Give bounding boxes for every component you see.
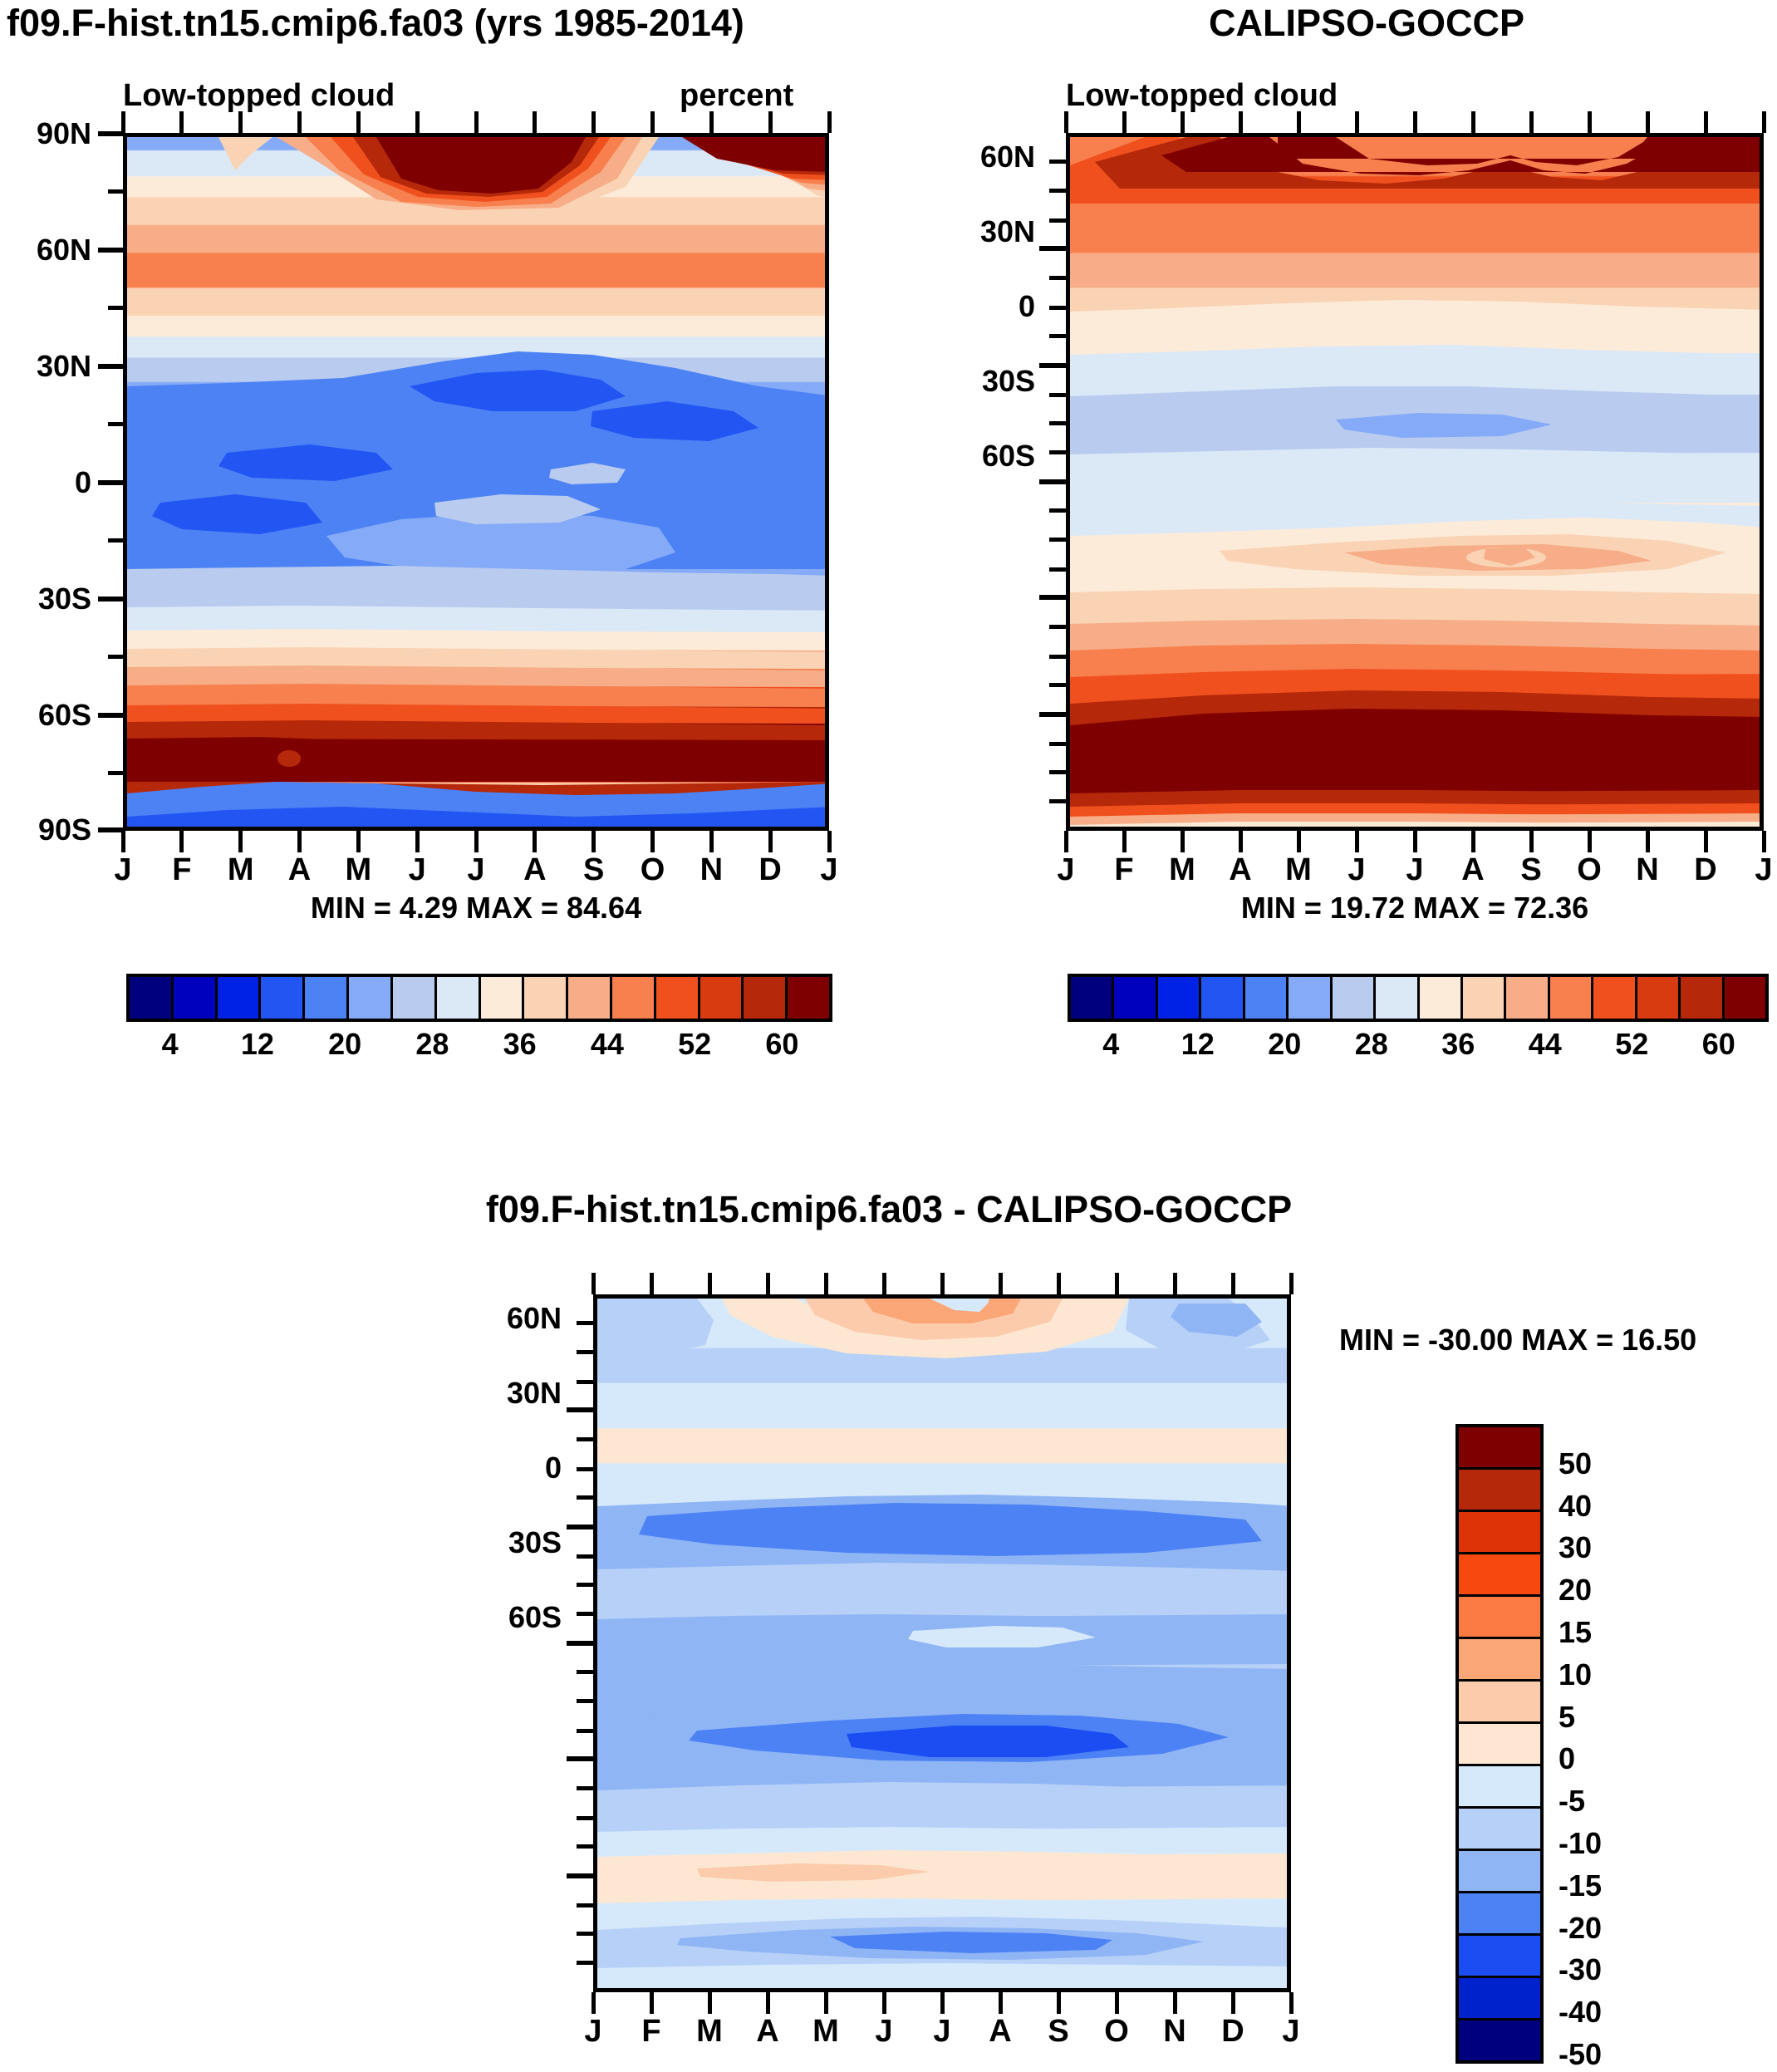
colorbar-tick-label: 52 — [657, 1027, 732, 1062]
diff-ylabel-0: 0 — [482, 1451, 562, 1485]
x-tick — [827, 831, 832, 852]
diff-colorbar[interactable] — [1455, 1424, 1544, 2064]
x-tick — [1355, 831, 1359, 852]
x-tick — [1471, 111, 1475, 133]
diff-contour-field — [597, 1299, 1291, 1992]
colorbar-tick-label: -10 — [1559, 1826, 1602, 1861]
colorbar-tick-label: 4 — [133, 1027, 208, 1062]
obs-contour-field — [1070, 137, 1764, 831]
y-tick-major — [567, 1641, 593, 1646]
x-tick — [824, 1273, 828, 1294]
y-tick-major — [567, 1407, 593, 1412]
month-label: F — [1099, 852, 1149, 888]
colorbar-cell — [1459, 2020, 1540, 2060]
month-label: J — [1266, 2014, 1316, 2050]
x-tick — [179, 111, 184, 133]
month-label: F — [157, 852, 207, 888]
y-tick-minor — [1049, 306, 1066, 310]
y-tick-major — [567, 1756, 593, 1761]
y-tick-minor — [1049, 421, 1066, 425]
colorbar-tick-label: 28 — [395, 1027, 469, 1062]
diff-plot-area[interactable] — [593, 1294, 1291, 1992]
model-subtitle-variable: Low-topped cloud — [123, 78, 395, 114]
model-ytick — [108, 655, 125, 659]
model-contour-field — [127, 137, 829, 831]
x-tick — [650, 1273, 654, 1294]
x-tick — [1181, 831, 1185, 852]
month-label: J — [804, 852, 854, 888]
x-tick — [940, 1273, 945, 1294]
y-tick-minor — [1049, 655, 1066, 659]
colorbar-cell — [788, 977, 829, 1019]
colorbar-tick-label: 20 — [307, 1027, 382, 1062]
y-tick-minor — [577, 1699, 593, 1703]
model-ylabel-30n: 30N — [12, 349, 91, 384]
y-tick-minor — [577, 1903, 593, 1908]
colorbar-cell — [1550, 977, 1593, 1019]
x-tick — [533, 831, 537, 852]
colorbar-cell — [218, 977, 262, 1019]
month-label: O — [1564, 852, 1614, 888]
colorbar-cell — [1463, 977, 1506, 1019]
x-tick — [592, 111, 596, 133]
month-label: M — [685, 2014, 734, 2050]
model-ylabel-90n: 90N — [12, 116, 91, 151]
obs-ylabel-30n: 30N — [955, 214, 1035, 249]
y-tick-major — [567, 1873, 593, 1878]
y-tick-minor — [577, 1670, 593, 1674]
diff-ylabel-30n: 30N — [482, 1376, 562, 1411]
y-tick-minor — [577, 1495, 593, 1500]
model-ytick — [98, 713, 125, 718]
colorbar-cell — [305, 977, 349, 1019]
colorbar-tick-label: -20 — [1559, 1911, 1602, 1946]
model-colorbar[interactable] — [126, 974, 832, 1022]
y-tick-minor — [1049, 770, 1066, 774]
x-tick — [1289, 1273, 1293, 1294]
x-tick — [1231, 1992, 1235, 2014]
x-tick — [1413, 111, 1417, 133]
x-tick — [1646, 831, 1650, 852]
month-label: M — [333, 852, 383, 888]
colorbar-cell — [656, 977, 700, 1019]
x-tick — [768, 111, 773, 133]
colorbar-cell — [481, 977, 525, 1019]
colorbar-cell — [1459, 1851, 1540, 1893]
x-tick — [1762, 111, 1766, 133]
x-tick — [1122, 111, 1127, 133]
colorbar-tick-label: -30 — [1559, 1952, 1602, 1987]
x-tick — [592, 1992, 596, 2014]
month-label: M — [801, 2014, 851, 2050]
y-tick-minor — [577, 1583, 593, 1587]
colorbar-cell — [1459, 1554, 1540, 1597]
colorbar-cell — [1201, 977, 1244, 1019]
month-label: N — [1150, 2014, 1200, 2050]
y-tick-minor — [577, 1932, 593, 1936]
colorbar-tick-label: -15 — [1559, 1868, 1602, 1903]
model-ytick — [108, 771, 125, 775]
x-tick — [356, 111, 361, 133]
obs-minmax: MIN = 19.72 MAX = 72.36 — [1066, 891, 1764, 926]
obs-panel-title: CALIPSO-GOCCP — [955, 2, 1777, 45]
model-ylabel-0: 0 — [12, 465, 91, 500]
colorbar-tick-label: 20 — [1559, 1573, 1592, 1608]
model-ytick — [98, 597, 125, 601]
y-tick-minor — [1049, 450, 1066, 454]
y-tick-minor — [577, 1554, 593, 1559]
colorbar-tick-label: 4 — [1073, 1027, 1148, 1062]
obs-ylabel-0: 0 — [955, 289, 1035, 324]
x-tick — [882, 1992, 886, 2014]
month-label: J — [1390, 852, 1440, 888]
colorbar-cell — [1459, 1766, 1540, 1809]
colorbar-cell — [1459, 1724, 1540, 1766]
x-tick — [827, 111, 832, 133]
x-tick — [1588, 111, 1592, 133]
diff-ylabel-60s: 60S — [482, 1600, 562, 1635]
x-tick — [650, 831, 655, 852]
month-label: D — [1208, 2014, 1258, 2050]
obs-ylabel-60n: 60N — [955, 140, 1035, 174]
x-tick — [1057, 1992, 1061, 2014]
colorbar-tick-label: 60 — [744, 1027, 819, 1062]
colorbar-cell — [174, 977, 218, 1019]
model-ylabel-90s: 90S — [12, 813, 91, 847]
y-tick-minor — [1049, 683, 1066, 687]
y-tick-minor — [1049, 508, 1066, 513]
x-tick — [766, 1273, 770, 1294]
diff-ylabel-30s: 30S — [482, 1525, 562, 1560]
diff-minmax: MIN = -30.00 MAX = 16.50 — [1339, 1323, 1696, 1358]
x-tick — [297, 111, 302, 133]
x-tick — [1057, 1273, 1061, 1294]
colorbar-tick-label: -40 — [1559, 1995, 1602, 2030]
y-tick-minor — [1049, 218, 1066, 223]
x-tick — [650, 111, 655, 133]
y-tick-major — [1039, 479, 1066, 484]
colorbar-tick-label: 15 — [1559, 1615, 1592, 1650]
x-tick — [940, 1992, 945, 2014]
y-tick-minor — [1049, 189, 1066, 193]
y-tick-minor — [1049, 567, 1066, 572]
y-tick-minor — [1049, 276, 1066, 280]
model-ylabel-60s: 60S — [12, 698, 91, 733]
colorbar-tick-label: 20 — [1247, 1027, 1322, 1062]
model-minmax: MIN = 4.29 MAX = 84.64 — [123, 891, 829, 926]
model-ytick — [108, 306, 125, 310]
obs-ylabel-60s: 60S — [955, 439, 1035, 474]
y-tick-minor — [577, 1961, 593, 1965]
y-tick-minor — [1049, 742, 1066, 746]
diff-ylabel-60n: 60N — [482, 1301, 562, 1336]
month-label: S — [1033, 2014, 1083, 2050]
colorbar-cell — [1681, 977, 1724, 1019]
x-tick — [121, 111, 125, 133]
x-tick — [592, 831, 596, 852]
month-label: J — [568, 2014, 618, 2050]
obs-colorbar[interactable] — [1068, 974, 1769, 1022]
y-tick-minor — [1049, 799, 1066, 803]
month-label: J — [859, 2014, 909, 2050]
x-tick — [1289, 1992, 1293, 2014]
colorbar-tick-label: -5 — [1559, 1784, 1585, 1819]
model-panel-title: f09.F-hist.tn15.cmip6.fa03 (yrs 1985-201… — [7, 2, 744, 45]
x-tick — [1704, 111, 1708, 133]
colorbar-cell — [349, 977, 393, 1019]
month-label: O — [1092, 2014, 1141, 2050]
y-tick-minor — [577, 1380, 593, 1384]
x-tick — [356, 831, 361, 852]
diff-panel-title: f09.F-hist.tn15.cmip6.fa03 - CALIPSO-GOC… — [299, 1188, 1479, 1231]
x-tick — [121, 831, 125, 852]
x-tick — [708, 1992, 712, 2014]
x-tick — [824, 1992, 828, 2014]
colorbar-cell — [1158, 977, 1201, 1019]
x-tick — [766, 1992, 770, 2014]
colorbar-cell — [1245, 977, 1289, 1019]
x-tick — [238, 831, 243, 852]
y-tick-minor — [577, 1321, 593, 1325]
y-tick-minor — [577, 1350, 593, 1354]
colorbar-cell — [393, 977, 437, 1019]
month-label: D — [1681, 852, 1730, 888]
x-tick — [709, 111, 714, 133]
x-tick — [297, 831, 302, 852]
colorbar-cell — [1420, 977, 1463, 1019]
x-tick — [415, 831, 420, 852]
colorbar-cell — [1459, 1427, 1540, 1470]
model-ytick — [108, 538, 125, 543]
x-tick — [708, 1273, 712, 1294]
model-ylabel-30s: 30S — [12, 582, 91, 616]
x-tick — [999, 1992, 1003, 2014]
colorbar-cell — [1333, 977, 1376, 1019]
month-label: D — [745, 852, 795, 888]
x-tick — [1239, 111, 1243, 133]
y-tick-major — [1039, 246, 1066, 251]
x-tick — [1239, 831, 1243, 852]
colorbar-cell — [700, 977, 744, 1019]
y-tick-major — [1039, 712, 1066, 717]
colorbar-tick-label: -50 — [1559, 2037, 1602, 2072]
x-tick — [592, 1273, 596, 1294]
colorbar-tick-label: 12 — [1161, 1027, 1235, 1062]
model-ytick — [108, 422, 125, 426]
month-label: N — [686, 852, 736, 888]
colorbar-cell — [1459, 1893, 1540, 1936]
month-label: J — [1041, 852, 1091, 888]
model-subtitle-units: percent — [680, 78, 793, 114]
x-tick — [1122, 831, 1127, 852]
x-tick — [1115, 1992, 1119, 2014]
month-label: N — [1622, 852, 1672, 888]
month-label: J — [392, 852, 442, 888]
colorbar-tick-label: 50 — [1559, 1446, 1592, 1481]
y-tick-minor — [577, 1467, 593, 1471]
x-tick — [1231, 1273, 1235, 1294]
colorbar-cell — [1459, 1639, 1540, 1682]
colorbar-cell — [1593, 977, 1637, 1019]
colorbar-cell — [1376, 977, 1419, 1019]
model-ytick — [98, 480, 125, 485]
colorbar-tick-label: 52 — [1594, 1027, 1669, 1062]
x-tick — [999, 1273, 1003, 1294]
y-tick-minor — [577, 1844, 593, 1849]
month-label: J — [1332, 852, 1382, 888]
x-tick — [1646, 111, 1650, 133]
y-tick-minor — [1049, 538, 1066, 542]
colorbar-tick-label: 10 — [1559, 1657, 1592, 1692]
x-tick — [1529, 831, 1534, 852]
model-plot-area[interactable] — [123, 133, 829, 831]
x-tick — [1064, 831, 1068, 852]
month-label: J — [98, 852, 148, 888]
month-label: J — [1739, 852, 1777, 888]
x-tick — [709, 831, 714, 852]
x-tick — [238, 111, 243, 133]
obs-plot-area[interactable] — [1066, 133, 1764, 831]
month-label: A — [975, 2014, 1025, 2050]
y-tick-minor — [577, 1786, 593, 1790]
x-tick — [1704, 831, 1708, 852]
colorbar-cell — [744, 977, 788, 1019]
colorbar-cell — [1459, 1978, 1540, 2020]
colorbar-cell — [1071, 977, 1114, 1019]
colorbar-tick-label: 44 — [570, 1027, 645, 1062]
x-tick — [1115, 1273, 1119, 1294]
model-ylabel-60n: 60N — [12, 233, 91, 268]
month-label: A — [743, 2014, 793, 2050]
month-label: J — [917, 2014, 967, 2050]
x-tick — [1762, 831, 1766, 852]
month-label: A — [1215, 852, 1265, 888]
x-tick — [882, 1273, 886, 1294]
x-tick — [1588, 831, 1592, 852]
month-label: O — [628, 852, 678, 888]
colorbar-tick-label: 0 — [1559, 1741, 1575, 1776]
obs-ylabel-30s: 30S — [955, 364, 1035, 399]
x-tick — [768, 831, 773, 852]
colorbar-cell — [1459, 1470, 1540, 1512]
colorbar-cell — [1114, 977, 1157, 1019]
x-tick — [1297, 831, 1301, 852]
month-label: S — [1506, 852, 1556, 888]
y-tick-minor — [1049, 160, 1066, 164]
colorbar-cell — [612, 977, 656, 1019]
colorbar-cell — [1289, 977, 1332, 1019]
y-tick-major — [1039, 363, 1066, 368]
y-tick-minor — [1049, 393, 1066, 397]
y-tick-minor — [577, 1729, 593, 1733]
colorbar-cell — [1725, 977, 1765, 1019]
colorbar-cell — [1459, 1936, 1540, 1978]
month-label: J — [451, 852, 501, 888]
month-label: A — [510, 852, 560, 888]
colorbar-tick-label: 36 — [1421, 1027, 1495, 1062]
colorbar-cell — [524, 977, 568, 1019]
x-tick — [533, 111, 537, 133]
month-label: M — [1274, 852, 1323, 888]
month-label: F — [626, 2014, 676, 2050]
x-tick — [1181, 111, 1185, 133]
y-tick-minor — [577, 1816, 593, 1820]
x-tick — [474, 111, 479, 133]
colorbar-cell — [1459, 1682, 1540, 1724]
y-tick-minor — [1049, 334, 1066, 338]
x-tick — [1355, 111, 1359, 133]
colorbar-cell — [1637, 977, 1681, 1019]
y-tick-minor — [577, 1612, 593, 1616]
x-tick — [1173, 1992, 1177, 2014]
colorbar-cell — [568, 977, 612, 1019]
x-tick — [179, 831, 184, 852]
x-tick — [474, 831, 479, 852]
model-ytick — [98, 364, 125, 369]
colorbar-cell — [1459, 1809, 1540, 1851]
colorbar-tick-label: 40 — [1559, 1489, 1592, 1524]
month-label: M — [1157, 852, 1207, 888]
colorbar-tick-label: 36 — [483, 1027, 557, 1062]
y-tick-major — [567, 1525, 593, 1529]
colorbar-tick-label: 28 — [1334, 1027, 1409, 1062]
colorbar-cell — [130, 977, 174, 1019]
x-tick — [1064, 111, 1068, 133]
x-tick — [1529, 111, 1534, 133]
colorbar-tick-label: 60 — [1681, 1027, 1756, 1062]
x-tick — [650, 1992, 654, 2014]
colorbar-cell — [1459, 1597, 1540, 1639]
month-label: S — [569, 852, 619, 888]
x-tick — [1297, 111, 1301, 133]
colorbar-tick-label: 12 — [220, 1027, 295, 1062]
month-label: M — [216, 852, 266, 888]
model-ytick — [108, 189, 125, 194]
x-tick — [1413, 831, 1417, 852]
x-tick — [415, 111, 420, 133]
y-tick-major — [1039, 595, 1066, 600]
colorbar-cell — [1506, 977, 1549, 1019]
colorbar-cell — [261, 977, 305, 1019]
obs-subtitle-variable: Low-topped cloud — [1066, 78, 1338, 114]
month-label: A — [1448, 852, 1498, 888]
colorbar-cell — [437, 977, 481, 1019]
month-label: A — [275, 852, 325, 888]
colorbar-tick-label: 44 — [1508, 1027, 1583, 1062]
y-tick-minor — [1049, 625, 1066, 629]
model-ytick — [98, 248, 125, 253]
x-tick — [1471, 831, 1475, 852]
colorbar-tick-label: 30 — [1559, 1530, 1592, 1565]
x-tick — [1173, 1273, 1177, 1294]
y-tick-minor — [577, 1437, 593, 1441]
colorbar-cell — [1459, 1512, 1540, 1554]
colorbar-tick-label: 5 — [1559, 1700, 1575, 1735]
